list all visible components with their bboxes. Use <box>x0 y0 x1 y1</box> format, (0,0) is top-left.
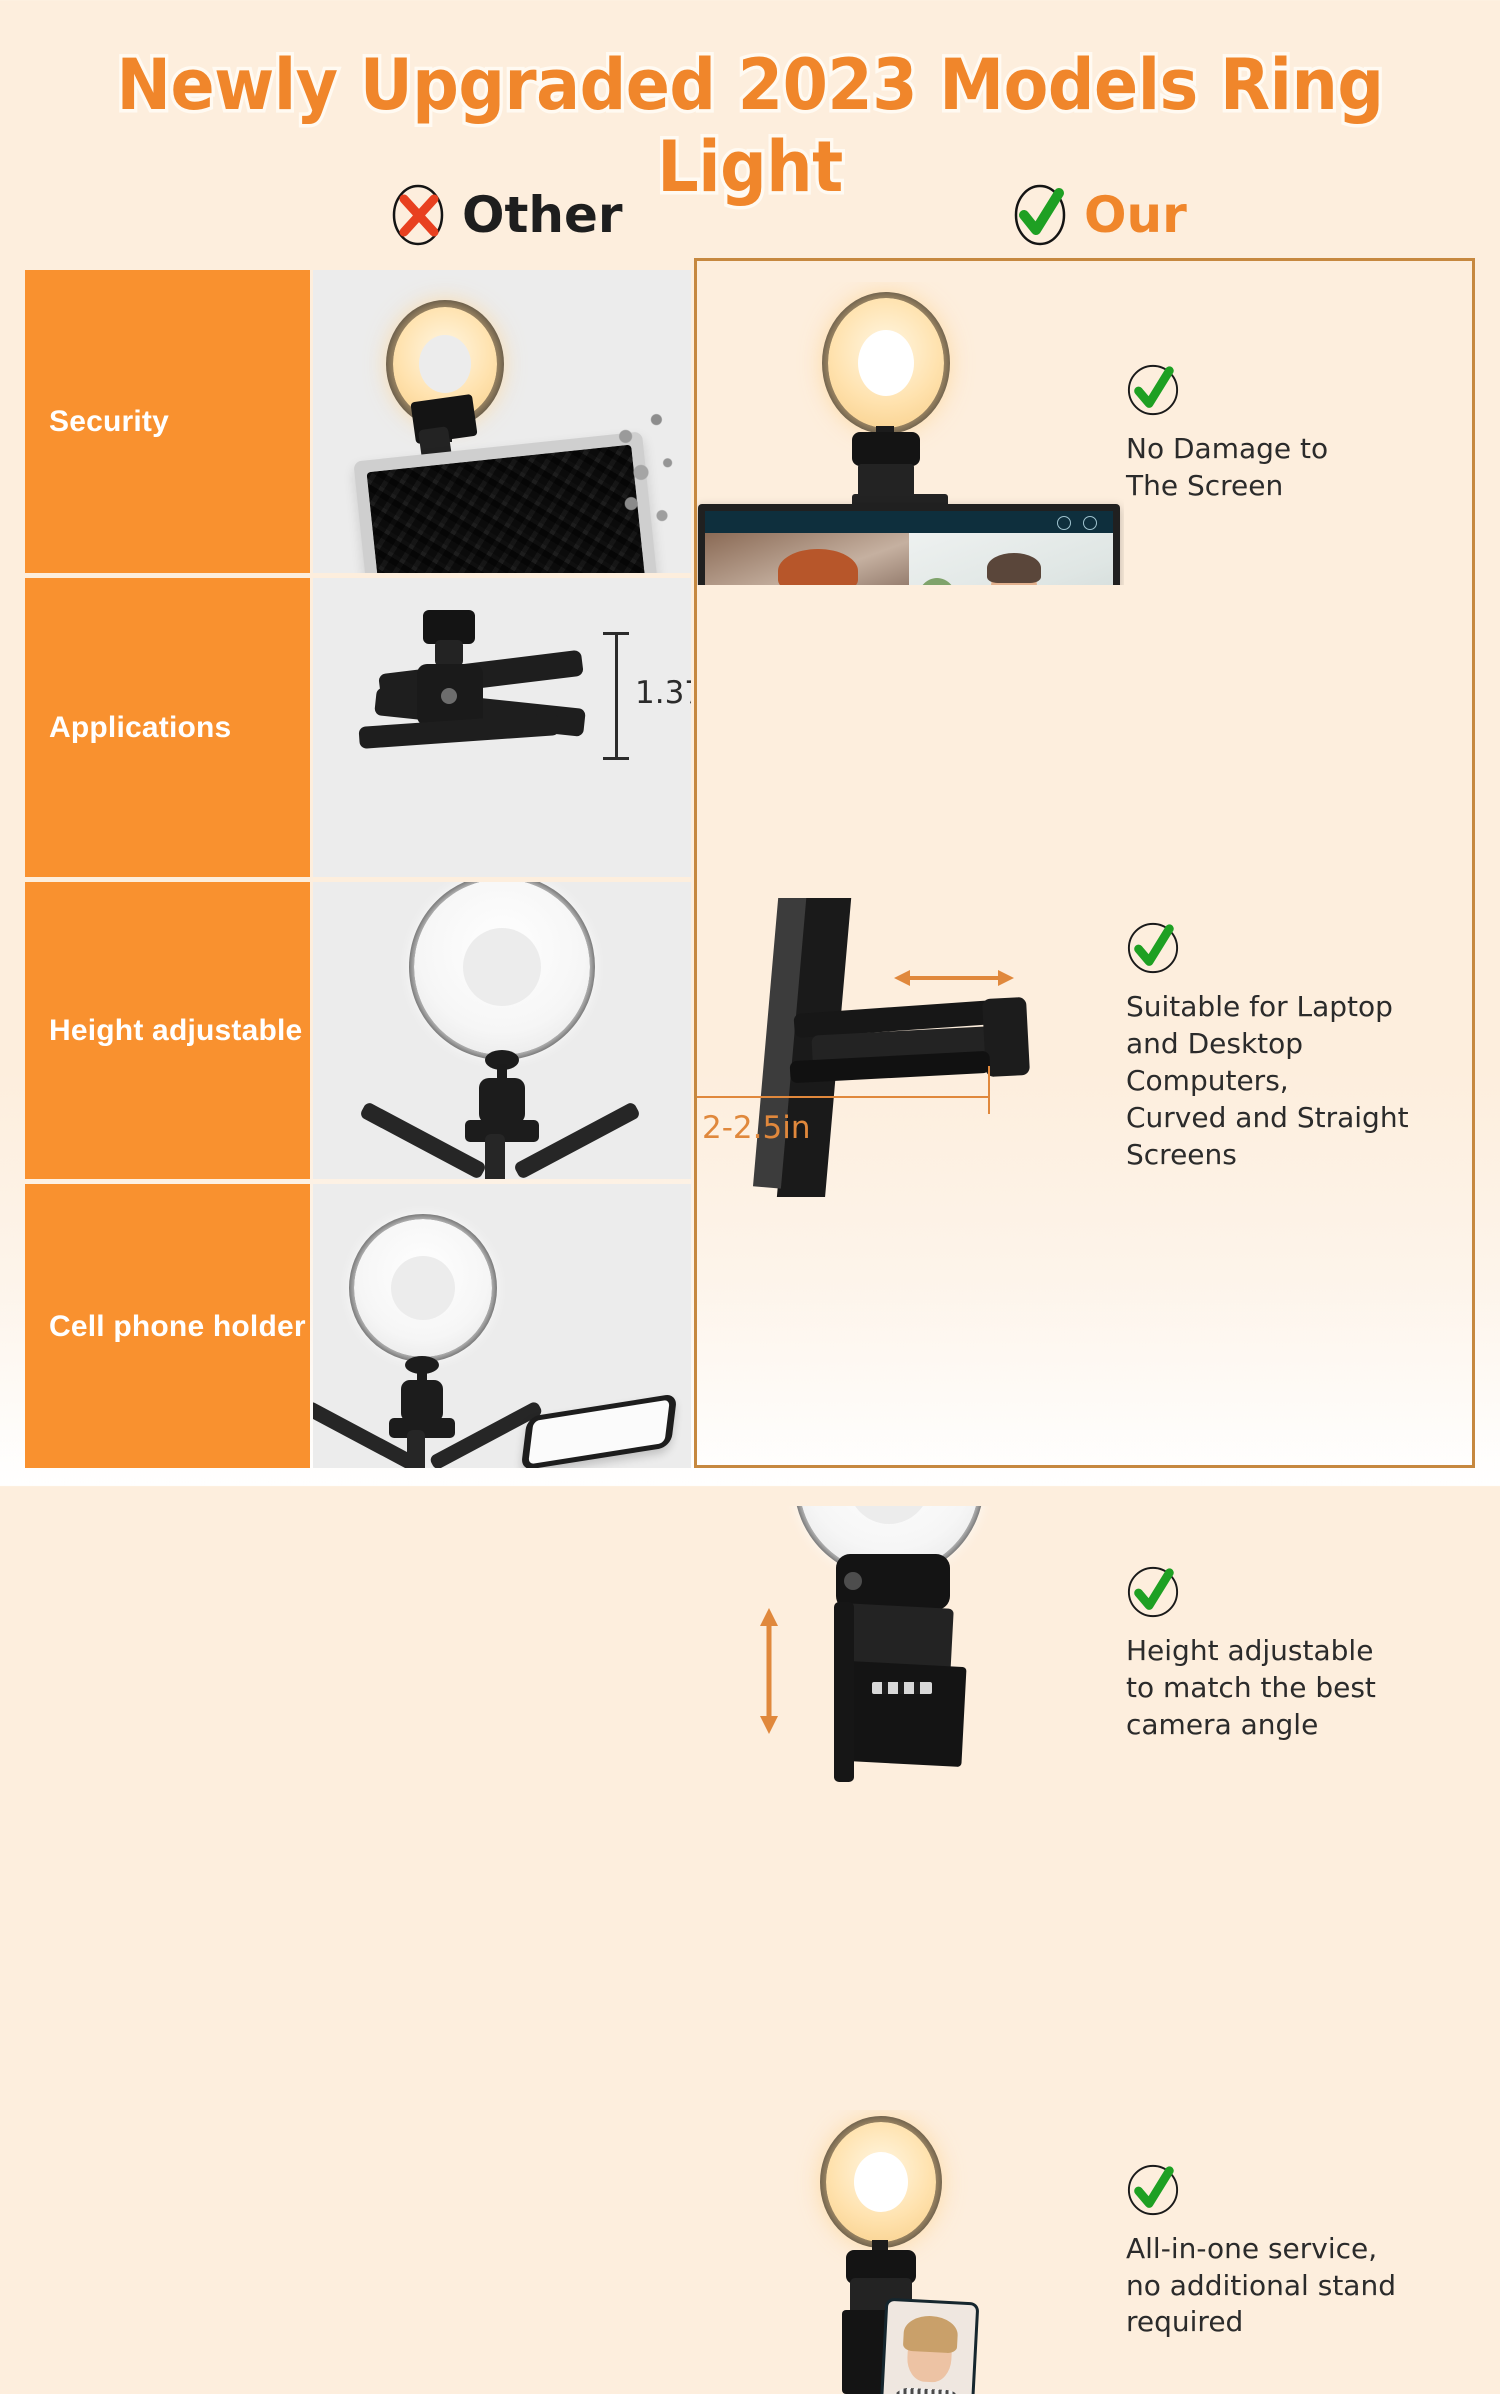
our-image-height-adjustable <box>694 1506 1124 1803</box>
column-header-our: Our <box>1012 184 1187 246</box>
table-row: Height adjustable <box>25 882 1475 1179</box>
clamp-neck <box>435 640 463 666</box>
glass-shards <box>613 410 683 530</box>
row-label-text: Height adjustable <box>25 1011 302 1050</box>
participant-shirt <box>891 2387 963 2394</box>
call-control-icon <box>1057 516 1071 530</box>
row-label-text: Applications <box>25 708 231 747</box>
row-label-height-adjustable: Height adjustable <box>25 882 310 1179</box>
row-label-text: Security <box>25 402 169 441</box>
phone-screen <box>882 2301 976 2394</box>
green-check-circle-icon <box>1126 1565 1180 1619</box>
tripod-leg <box>407 1430 425 1468</box>
our-cell-security: No Damage to The Screen <box>694 282 1475 585</box>
our-image-cell-phone-holder <box>694 2110 1124 2394</box>
row-label-text: Cell phone holder <box>25 1307 306 1346</box>
slider-rail <box>834 1602 854 1782</box>
tripod-leg <box>485 1134 505 1179</box>
other-cell-cell-phone-holder <box>313 1184 691 1468</box>
our-text-security: No Damage to The Screen <box>1126 282 1471 585</box>
our-feature-text: All-in-one service, no additional stand … <box>1126 2231 1463 2342</box>
phone-in-holder <box>879 2298 980 2394</box>
participant-hair <box>903 2314 959 2353</box>
clamp-screw <box>441 688 457 704</box>
other-cell-height-adjustable <box>313 882 691 1179</box>
red-x-circle-icon <box>390 184 446 246</box>
row-label-security: Security <box>25 270 310 573</box>
row-label-applications: Applications <box>25 578 310 877</box>
table-row: Security <box>25 270 1475 573</box>
tripod-ball-head <box>479 1078 525 1124</box>
column-header-other-label: Other <box>462 190 623 240</box>
ring-light-white-icon <box>409 882 595 1060</box>
our-cell-height-adjustable: Height adjustable to match the best came… <box>694 1506 1475 1803</box>
ring-light-warm-icon <box>820 2116 942 2248</box>
hinge-screw <box>844 1572 862 1590</box>
comparison-grid: Security <box>25 258 1475 1468</box>
height-adjust-arrow-icon <box>756 1606 782 1736</box>
our-text-height-adjustable: Height adjustable to match the best came… <box>1126 1506 1471 1803</box>
ring-light-white-icon <box>349 1214 497 1362</box>
ratchet-teeth <box>872 1682 932 1694</box>
monitor-screen <box>705 511 1113 585</box>
row-label-cell-phone-holder: Cell phone holder <box>25 1184 310 1468</box>
our-text-cell-phone-holder: All-in-one service, no additional stand … <box>1126 2110 1471 2394</box>
other-cell-applications: 1.37in <box>313 578 691 877</box>
page-title: Newly Upgraded 2023 Models Ring Light <box>53 44 1448 208</box>
other-cell-security <box>313 270 691 573</box>
separate-phone <box>521 1393 678 1468</box>
our-feature-text: No Damage to The Screen <box>1126 431 1463 505</box>
slider-lower <box>843 1661 966 1767</box>
our-cell-cell-phone-holder: All-in-one service, no additional stand … <box>694 2110 1475 2394</box>
shattered-screen <box>367 445 650 573</box>
green-check-circle-icon <box>1126 2163 1180 2217</box>
tripod-ball-head <box>401 1380 443 1422</box>
green-check-circle-icon <box>1126 363 1180 417</box>
ring-light-warm-icon <box>822 292 950 434</box>
clamp-head <box>852 432 920 466</box>
call-control-icon <box>1083 516 1097 530</box>
column-header-our-label: Our <box>1084 190 1187 240</box>
page-title-container: Newly Upgraded 2023 Models Ring Light <box>0 44 1500 208</box>
table-row: Applications 1.37in <box>25 578 1475 877</box>
table-row: Cell phone holder <box>25 1184 1475 1468</box>
dimension-label-other: 1.37in <box>635 675 691 711</box>
phone-screen <box>528 1400 670 1465</box>
monitor <box>698 504 1120 585</box>
our-feature-text: Height adjustable to match the best came… <box>1126 1633 1463 1744</box>
green-check-circle-icon <box>1012 184 1068 246</box>
column-header-other: Other <box>390 184 623 246</box>
dimension-line-vertical <box>603 632 629 760</box>
clamp-top-knob <box>423 610 475 644</box>
our-image-security <box>694 282 1124 585</box>
